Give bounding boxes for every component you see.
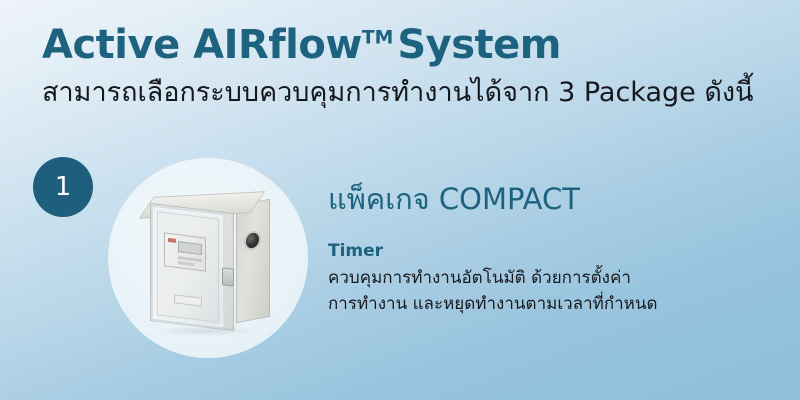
trademark-symbol: TM — [362, 28, 394, 49]
package-title: แพ็คเกจ COMPACT — [328, 183, 778, 216]
feature-description-line-2: การทำงาน และหยุดทำงานตามเวลาที่กำหนด — [328, 292, 778, 318]
page-title: Active AIRflowTMSystem — [42, 24, 782, 66]
timer-keypad-row-2 — [178, 261, 194, 266]
step-number-label: 1 — [55, 172, 72, 202]
feature-description-line-1: ควบคุมการทำงานอัตโนมัติ ด้วยการตั้งค่า — [328, 266, 778, 292]
slide-root: Active AIRflowTMSystem สามารถเลือกระบบคว… — [0, 0, 800, 400]
timer-display-screen — [178, 241, 202, 255]
page-title-main: Active AIRflow — [42, 22, 362, 68]
feature-description: ควบคุมการทำงานอัตโนมัติ ด้วยการตั้งค่า ก… — [328, 266, 778, 317]
page-subtitle: สามารถเลือกระบบควบคุมการทำงานได้จาก 3 Pa… — [42, 76, 782, 110]
control-box-enclosure-icon — [144, 192, 270, 332]
header: Active AIRflowTMSystem สามารถเลือกระบบคว… — [42, 24, 782, 110]
enclosure-side-panel — [236, 199, 270, 324]
timer-brand-mark — [168, 238, 176, 243]
step-number-badge: 1 — [33, 157, 93, 217]
package-content: แพ็คเกจ COMPACT Timer ควบคุมการทำงานอัตโ… — [328, 183, 778, 317]
feature-name: Timer — [328, 240, 778, 262]
page-title-suffix: System — [397, 22, 561, 68]
timer-module-icon — [164, 232, 206, 271]
feature-block: Timer ควบคุมการทำงานอัตโนมัติ ด้วยการตั้… — [328, 240, 778, 317]
product-image-circle — [108, 158, 308, 358]
enclosure-drop-shadow — [158, 326, 254, 336]
enclosure-door-latch — [222, 267, 234, 286]
